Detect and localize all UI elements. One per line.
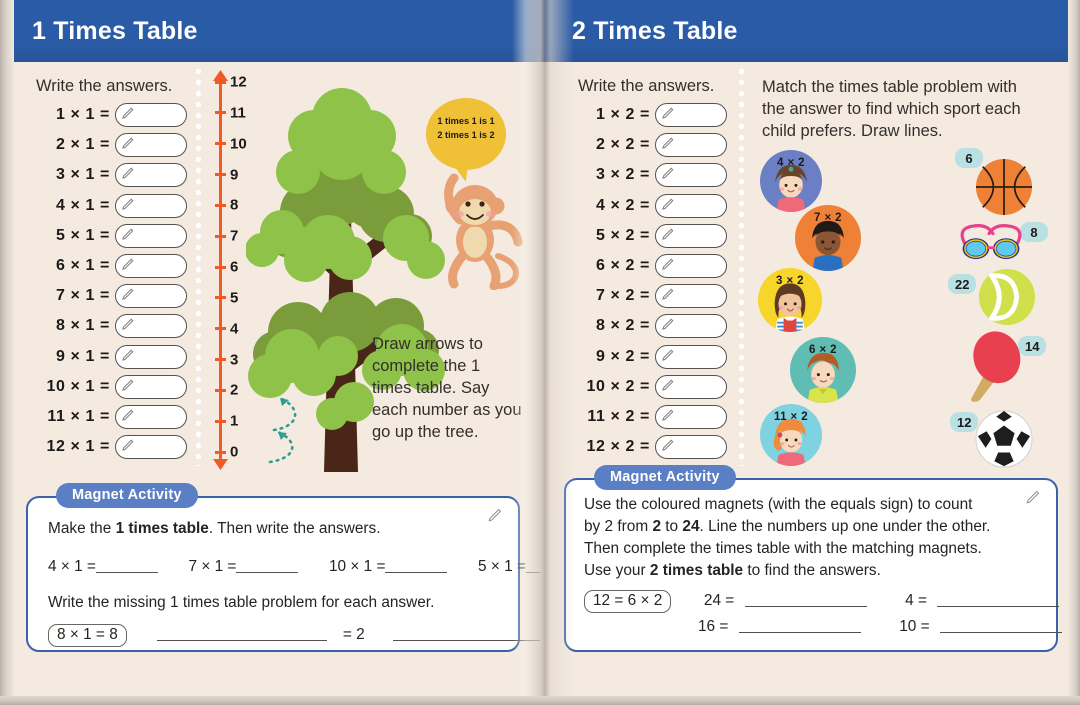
eq-2x-input-11[interactable]: [655, 435, 727, 459]
workbook-spread: 1 Times Table Write the answers. 1 × 1 =…: [0, 0, 1080, 705]
pencil-icon: [661, 288, 674, 301]
t4c: to find the answers.: [743, 562, 881, 579]
pencil-icon: [121, 409, 134, 422]
t2e: . Line the numbers up one under the othe…: [700, 518, 991, 535]
eq-1x-row-4: 5 × 1 =: [38, 221, 187, 251]
eq-1x-text-6: 7 × 1 =: [38, 287, 110, 305]
eq-1x-input-10[interactable]: [115, 405, 187, 429]
number-line-tick-7: [215, 235, 226, 238]
magnet-left-line-2: Write the missing 1 times table problem …: [48, 592, 434, 614]
eq-2x-row-5: 6 × 2 =: [578, 251, 727, 281]
eq-1x-input-0[interactable]: [115, 103, 187, 127]
eq-2x-row-3: 4 × 2 =: [578, 191, 727, 221]
child-problem-label-3: 6 × 2: [790, 344, 856, 356]
number-line-label-4: 4: [230, 320, 238, 337]
basketball-icon: [975, 158, 1033, 216]
eq-2x-row-2: 3 × 2 =: [578, 160, 727, 190]
eq-2x-text-4: 5 × 2 =: [578, 227, 650, 245]
eq-2x-input-10[interactable]: [655, 405, 727, 429]
magnet-activity-box-right: Magnet Activity Use the coloured magnets…: [564, 478, 1058, 652]
child-problem-label-0: 4 × 2: [760, 157, 822, 169]
child-problem-label-2: 3 × 2: [758, 275, 822, 287]
magnet-activity-box-left: Magnet Activity Make the 1 times table. …: [26, 496, 520, 652]
sport-item-tennis-ball[interactable]: [978, 268, 1036, 326]
sport-item-basketball[interactable]: [975, 158, 1033, 216]
right-page-header: 2 Times Table: [540, 0, 1080, 62]
eq-2x-row-1: 2 × 2 =: [578, 130, 727, 160]
pencil-icon: [121, 439, 134, 452]
given-answer-0: = 2: [343, 626, 365, 643]
magnet-activity-tab-right: Magnet Activity: [594, 465, 736, 490]
problem-2: 10 × 1 =: [329, 558, 385, 575]
problem-blank-0[interactable]: [157, 640, 327, 641]
eq-1x-row-2: 3 × 1 =: [38, 160, 187, 190]
eq-2x-row-6: 7 × 2 =: [578, 281, 727, 311]
pencil-icon: [121, 137, 134, 150]
pencil-icon: [121, 318, 134, 331]
arrow-up-icon: [212, 70, 229, 81]
pencil-icon: [661, 137, 674, 150]
eq-1x-row-8: 9 × 1 =: [38, 342, 187, 372]
eq-2x-input-5[interactable]: [655, 254, 727, 278]
eq-2x-row-7: 8 × 2 =: [578, 311, 727, 341]
eq-2x-input-3[interactable]: [655, 194, 727, 218]
pencil-icon: [121, 167, 134, 180]
number-line-label-5: 5: [230, 289, 238, 306]
number-line-tick-4: [215, 327, 226, 330]
magnet-left-line-1: Make the 1 times table. Then write the a…: [48, 518, 381, 540]
child-avatar-boy-dark-hair[interactable]: 7 × 2: [795, 205, 861, 271]
eq-2x-text-2: 3 × 2 =: [578, 166, 650, 184]
number-line-label-7: 7: [230, 228, 238, 245]
number-line-label-3: 3: [230, 351, 238, 368]
pencil-icon: [661, 258, 674, 271]
t2a: by 2 from: [584, 518, 652, 535]
ping-pong-paddle-icon: [962, 330, 1022, 402]
speech-bubble-text: 1 times 1 is 1 2 times 1 is 2: [426, 115, 506, 143]
magnet-left-l1a: Make the: [48, 520, 116, 537]
page-title-right: 2 Times Table: [572, 17, 738, 46]
number-line-label-2: 2: [230, 382, 238, 399]
magnet-right-blank-2[interactable]: [739, 632, 861, 633]
eq-2x-text-9: 10 × 2 =: [578, 378, 650, 396]
eq-1x-text-2: 3 × 1 =: [38, 166, 110, 184]
times-table-1-list: 1 × 1 =2 × 1 =3 × 1 =4 × 1 =5 × 1 =6 × 1…: [38, 100, 187, 462]
eq-1x-text-11: 12 × 1 =: [38, 438, 110, 456]
number-line-tick-1: [215, 420, 226, 423]
eq-1x-row-0: 1 × 1 =: [38, 100, 187, 130]
number-line-label-6: 6: [230, 259, 238, 276]
number-line-label-0: 0: [230, 444, 238, 461]
eq-2x-text-1: 2 × 2 =: [578, 136, 650, 154]
eq-1x-text-9: 10 × 1 =: [38, 378, 110, 396]
t2c: to: [661, 518, 682, 535]
answer-blank-0[interactable]: [96, 572, 158, 573]
example-chip: 8 × 1 = 8: [48, 624, 127, 647]
left-page-header: 1 Times Table: [0, 0, 540, 62]
left-page: 1 Times Table Write the answers. 1 × 1 =…: [0, 0, 540, 705]
number-line-tick-3: [215, 358, 226, 361]
eq-2x-text-8: 9 × 2 =: [578, 348, 650, 366]
magnet-right-row-0: 24 =: [704, 592, 734, 609]
eq-2x-input-6[interactable]: [655, 284, 727, 308]
number-line-tick-5: [215, 296, 226, 299]
eq-1x-input-1[interactable]: [115, 133, 187, 157]
magnet-right-row-1: 4 =: [905, 592, 927, 609]
eq-1x-input-9[interactable]: [115, 375, 187, 399]
magnet-right-t1: Use the coloured magnets (with the equal…: [584, 494, 972, 516]
pencil-icon: [121, 349, 134, 362]
column-divider-dots-right: [739, 66, 744, 466]
answer-badge-14[interactable]: 14: [1018, 336, 1046, 356]
eq-2x-input-4[interactable]: [655, 224, 727, 248]
tree-instruction: Draw arrows to complete the 1 times tabl…: [372, 334, 522, 444]
eq-1x-text-1: 2 × 1 =: [38, 136, 110, 154]
magnet-left-problems-row: 4 × 1 = 7 × 1 = 10 × 1 = 5 × 1 =: [48, 558, 540, 576]
match-instruction: Match the times table problem with the a…: [762, 76, 1042, 142]
eq-1x-input-5[interactable]: [115, 254, 187, 278]
pencil-icon: [661, 107, 674, 120]
monkey-illustration-icon: [424, 160, 534, 290]
eq-1x-text-10: 11 × 1 =: [38, 408, 110, 426]
t4a: Use your: [584, 562, 650, 579]
eq-1x-input-3[interactable]: [115, 194, 187, 218]
number-line-tick-10: [215, 142, 226, 145]
eq-1x-input-2[interactable]: [115, 163, 187, 187]
pencil-icon: [661, 228, 674, 241]
magnet-right-t4: Use your 2 times table to find the answe…: [584, 560, 881, 582]
magnet-right-second-row: 16 = 10 =: [698, 618, 1062, 636]
eq-1x-text-5: 6 × 1 =: [38, 257, 110, 275]
pencil-icon: [121, 379, 134, 392]
child-avatar-boy-ginger[interactable]: 6 × 2: [790, 337, 856, 403]
eq-2x-input-8[interactable]: [655, 345, 727, 369]
problem-0: 4 × 1 =: [48, 558, 96, 575]
swimming-goggles-icon: [955, 222, 1027, 264]
eq-2x-text-10: 11 × 2 =: [578, 408, 650, 426]
page-title: 1 Times Table: [32, 17, 198, 46]
eq-2x-input-7[interactable]: [655, 314, 727, 338]
magnet-left-l1c: . Then write the answers.: [209, 520, 381, 537]
child-problem-label-4: 11 × 2: [760, 411, 822, 423]
eq-2x-row-4: 5 × 2 =: [578, 221, 727, 251]
pencil-icon: [121, 198, 134, 211]
eq-1x-text-8: 9 × 1 =: [38, 348, 110, 366]
child-problem-label-1: 7 × 2: [795, 212, 861, 224]
answer-blank-1[interactable]: [236, 572, 298, 573]
answer-blank-2[interactable]: [385, 572, 447, 573]
problem-3: 5 × 1 =: [478, 558, 526, 575]
answer-badge-22[interactable]: 22: [948, 274, 976, 294]
t2b: 2: [652, 518, 661, 535]
magnet-right-row-2: 16 =: [698, 618, 728, 635]
number-line-tick-8: [215, 204, 226, 207]
magnet-right-t3: Then complete the times table with the m…: [584, 538, 982, 560]
eq-1x-text-3: 4 × 1 =: [38, 197, 110, 215]
eq-1x-row-10: 11 × 1 =: [38, 402, 187, 432]
eq-1x-input-6[interactable]: [115, 284, 187, 308]
number-line-label-12: 12: [230, 74, 247, 91]
eq-1x-text-7: 8 × 1 =: [38, 317, 110, 335]
eq-1x-row-1: 2 × 1 =: [38, 130, 187, 160]
child-avatar-girl-bun[interactable]: 4 × 2: [760, 150, 822, 212]
speech-line-1: 1 times 1 is 1: [426, 115, 506, 129]
answer-blank-3[interactable]: [526, 572, 540, 573]
magnet-left-answers-row: 8 × 1 = 8 = 2 = 11: [48, 624, 540, 647]
number-line-label-8: 8: [230, 197, 238, 214]
problem-1: 7 × 1 =: [189, 558, 237, 575]
t4b: 2 times table: [650, 562, 743, 579]
pencil-icon: [661, 409, 674, 422]
pencil-icon: [121, 228, 134, 241]
pencil-icon: [121, 258, 134, 271]
number-line-label-11: 11: [230, 104, 246, 121]
problem-blank-1[interactable]: [393, 640, 540, 641]
number-line-label-1: 1: [230, 413, 238, 430]
pencil-icon: [661, 439, 674, 452]
pencil-icon: [121, 288, 134, 301]
number-line-axis: [219, 78, 222, 460]
pencil-icon: [487, 508, 502, 523]
pencil-icon: [661, 198, 674, 211]
soccer-ball-icon: [975, 410, 1033, 468]
eq-2x-input-1[interactable]: [655, 133, 727, 157]
magnet-activity-tab: Magnet Activity: [56, 483, 198, 508]
eq-1x-row-5: 6 × 1 =: [38, 251, 187, 281]
magnet-right-chip-row: 12 = 6 × 2 24 = 4 =: [584, 590, 1059, 613]
pencil-icon: [661, 349, 674, 362]
times-table-2-list: 1 × 2 =2 × 2 =3 × 2 =4 × 2 =5 × 2 =6 × 2…: [578, 100, 727, 462]
pencil-icon: [661, 167, 674, 180]
eq-1x-row-11: 12 × 1 =: [38, 432, 187, 462]
eq-2x-text-3: 4 × 2 =: [578, 197, 650, 215]
number-line-tick-9: [215, 173, 226, 176]
sport-item-soccer-ball[interactable]: [975, 410, 1033, 468]
eq-2x-text-0: 1 × 2 =: [578, 106, 650, 124]
speech-line-2: 2 times 1 is 2: [426, 129, 506, 143]
eq-2x-text-6: 7 × 2 =: [578, 287, 650, 305]
eq-1x-input-4[interactable]: [115, 224, 187, 248]
magnet-left-l1b: 1 times table: [116, 520, 209, 537]
eq-1x-input-7[interactable]: [115, 314, 187, 338]
magnet-right-row-3: 10 =: [899, 618, 929, 635]
eq-1x-text-0: 1 × 1 =: [38, 106, 110, 124]
eq-1x-row-7: 8 × 1 =: [38, 311, 187, 341]
magnet-right-t2: by 2 from 2 to 24. Line the numbers up o…: [584, 516, 990, 538]
number-line-tick-2: [215, 389, 226, 392]
example-chip-right: 12 = 6 × 2: [584, 590, 671, 613]
eq-1x-row-3: 4 × 1 =: [38, 191, 187, 221]
eq-1x-row-6: 7 × 1 =: [38, 281, 187, 311]
eq-2x-text-5: 6 × 2 =: [578, 257, 650, 275]
column-divider-dots: [196, 66, 201, 466]
eq-2x-row-10: 11 × 2 =: [578, 402, 727, 432]
number-line-tick-11: [215, 111, 226, 114]
number-line-tick-0: [215, 451, 226, 454]
pencil-icon: [661, 318, 674, 331]
eq-2x-row-0: 1 × 2 =: [578, 100, 727, 130]
number-line-tick-6: [215, 266, 226, 269]
eq-2x-row-9: 10 × 2 =: [578, 372, 727, 402]
arrow-down-icon: [212, 459, 229, 470]
number-line-tick-12: [215, 81, 226, 84]
eq-2x-row-8: 9 × 2 =: [578, 342, 727, 372]
magnet-right-blank-0[interactable]: [745, 606, 867, 607]
t2d: 24: [682, 518, 699, 535]
eq-2x-row-11: 12 × 2 =: [578, 432, 727, 462]
pencil-icon: [121, 107, 134, 120]
magnet-right-blank-1[interactable]: [937, 606, 1059, 607]
eq-2x-text-11: 12 × 2 =: [578, 438, 650, 456]
number-line-label-9: 9: [230, 166, 238, 183]
eq-2x-input-9[interactable]: [655, 375, 727, 399]
tennis-ball-icon: [978, 268, 1036, 326]
child-avatar-girl-ponytail[interactable]: 11 × 2: [760, 404, 822, 466]
magnet-right-blank-3[interactable]: [940, 632, 1062, 633]
sport-item-ping-pong-paddle[interactable]: [962, 330, 1022, 402]
sport-item-swimming-goggles[interactable]: [955, 222, 1027, 264]
eq-2x-input-2[interactable]: [655, 163, 727, 187]
pencil-icon: [661, 379, 674, 392]
eq-1x-row-9: 10 × 1 =: [38, 372, 187, 402]
eq-1x-input-8[interactable]: [115, 345, 187, 369]
child-avatar-girl-overalls[interactable]: 3 × 2: [758, 268, 822, 332]
eq-2x-text-7: 8 × 2 =: [578, 317, 650, 335]
number-line-label-10: 10: [230, 135, 247, 152]
left-instruction: Write the answers.: [36, 76, 172, 98]
eq-1x-input-11[interactable]: [115, 435, 187, 459]
eq-2x-input-0[interactable]: [655, 103, 727, 127]
right-instruction: Write the answers.: [578, 76, 714, 98]
eq-1x-text-4: 5 × 1 =: [38, 227, 110, 245]
pencil-icon-right: [1025, 490, 1040, 505]
